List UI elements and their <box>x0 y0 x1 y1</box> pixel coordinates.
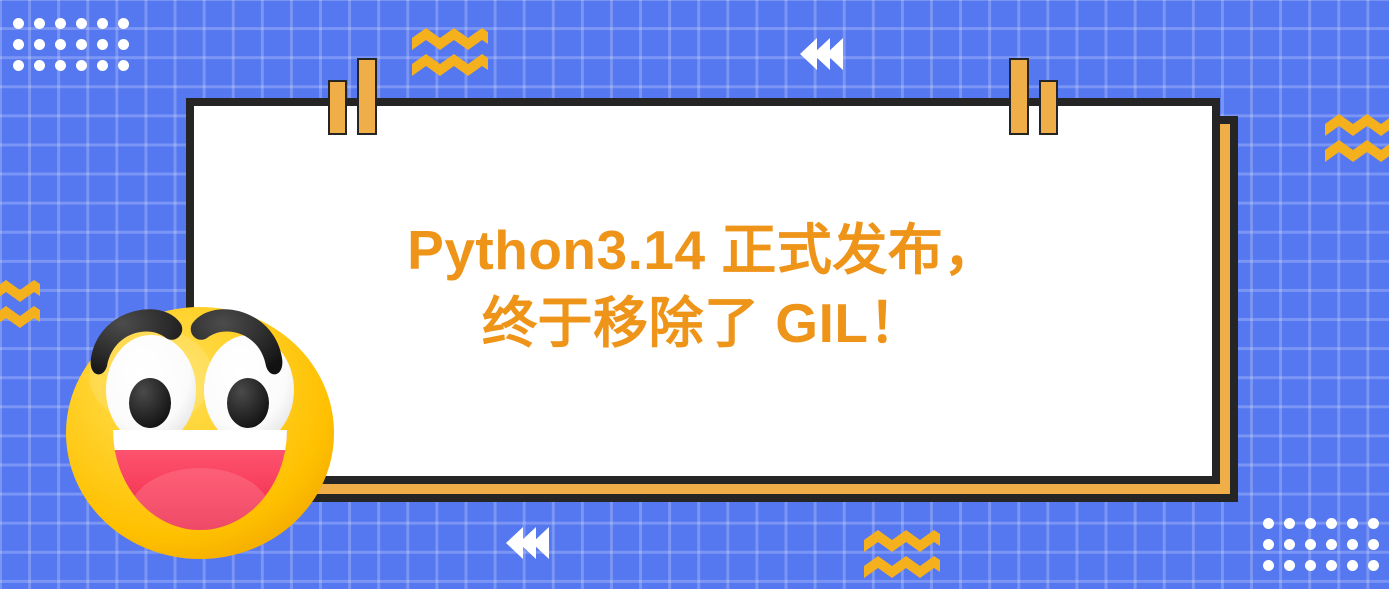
dot <box>76 60 87 71</box>
banner-canvas: Python3.14 正式发布， 终于移除了 GIL！ <box>0 0 1389 589</box>
zigzag-icon-left-edge <box>0 278 42 336</box>
rewind-arrows-icon-bottom <box>506 527 549 559</box>
dot-grid-bottom-right <box>1263 518 1379 571</box>
dot <box>1284 539 1295 550</box>
dot <box>13 60 24 71</box>
dot <box>1347 560 1358 571</box>
dot <box>97 39 108 50</box>
dot <box>97 18 108 29</box>
dot <box>1326 539 1337 550</box>
dot <box>1347 518 1358 529</box>
clip-bar-right-inner <box>1009 58 1029 135</box>
zigzag-icon-right-edge <box>1323 112 1389 170</box>
dot <box>76 39 87 50</box>
dot <box>55 60 66 71</box>
dot <box>1305 539 1316 550</box>
dot <box>1368 518 1379 529</box>
dot <box>34 18 45 29</box>
dot <box>1368 560 1379 571</box>
dot <box>1263 539 1274 550</box>
dot <box>55 39 66 50</box>
dot <box>34 60 45 71</box>
dot <box>1284 518 1295 529</box>
zigzag-icon-bottom-center <box>862 528 942 586</box>
dot <box>1305 518 1316 529</box>
clip-bar-left-outer <box>328 80 347 135</box>
dot <box>1305 560 1316 571</box>
triangle-left-icon <box>826 38 843 70</box>
dot <box>97 60 108 71</box>
zigzag-icon-top-left <box>410 26 490 84</box>
dot <box>76 18 87 29</box>
dot-grid-top-left <box>13 18 129 71</box>
dot <box>1263 560 1274 571</box>
emoji-pupil-right <box>227 378 269 428</box>
dot <box>118 18 129 29</box>
dot <box>1263 518 1274 529</box>
emoji-pupil-left <box>129 378 171 428</box>
dot <box>1368 539 1379 550</box>
dot <box>1347 539 1358 550</box>
dot <box>118 60 129 71</box>
grinning-face-emoji <box>55 248 345 568</box>
clip-bar-right-outer <box>1039 80 1058 135</box>
page-title: Python3.14 正式发布， 终于移除了 GIL！ <box>407 214 999 367</box>
dot <box>1326 518 1337 529</box>
dot <box>118 39 129 50</box>
clip-bar-left-inner <box>357 58 377 135</box>
triangle-left-icon <box>532 527 549 559</box>
dot <box>34 39 45 50</box>
dot <box>55 18 66 29</box>
rewind-arrows-icon-top <box>800 38 843 70</box>
dot <box>13 18 24 29</box>
dot <box>13 39 24 50</box>
dot <box>1326 560 1337 571</box>
dot <box>1284 560 1295 571</box>
